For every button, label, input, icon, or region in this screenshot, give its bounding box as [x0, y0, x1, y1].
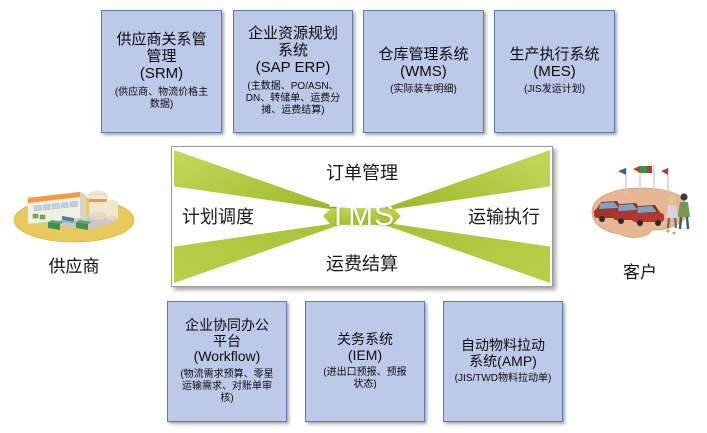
system-box-iem-title: 关务系统 (IEM) — [337, 332, 393, 363]
system-box-mes-title: 生产执行系统 (MES) — [509, 47, 599, 81]
system-box-amp-title: 自动物料拉动 系统(AMP) — [461, 338, 545, 369]
system-box-amp[interactable]: 自动物料拉动 系统(AMP) (JIS/TWD物料拉动单) — [443, 301, 563, 422]
core-label-transport-execution: 运输执行 — [468, 203, 540, 229]
customer-caption: 客户 — [578, 258, 702, 283]
car-dealership-icon — [578, 160, 702, 252]
factory-icon — [8, 174, 140, 246]
system-box-iem[interactable]: 关务系统 (IEM) (进出口预报、预报 状态) — [305, 301, 425, 422]
system-box-srm-title: 供应商关系管 管理 (SRM) — [116, 32, 206, 82]
core-label-freight-settlement: 运费结算 — [172, 250, 552, 276]
system-box-wms-title: 仓库管理系统 (WMS) — [378, 47, 468, 81]
tms-core-panel[interactable]: TMS 订单管理 运费结算 计划调度 运输执行 — [171, 146, 553, 287]
customer-illustration — [578, 160, 702, 257]
system-box-srm-detail: (供应商、物流价格主 数据) — [115, 87, 208, 111]
system-box-workflow[interactable]: 企业协同办公 平台 (Workflow) (物流需求预算、零星 运输需求、对账单… — [167, 301, 287, 422]
system-box-workflow-title: 企业协同办公 平台 (Workflow) — [185, 318, 269, 365]
actor-supplier: 供应商 — [8, 174, 140, 277]
system-box-iem-detail: (进出口预报、预报 状态) — [323, 367, 406, 391]
system-box-wms-detail: (实际装车明细) — [390, 84, 457, 96]
core-label-order-management: 订单管理 — [172, 159, 552, 185]
system-box-srm[interactable]: 供应商关系管 管理 (SRM) (供应商、物流价格主 数据) — [101, 10, 222, 133]
system-box-wms[interactable]: 仓库管理系统 (WMS) (实际装车明细) — [363, 10, 484, 133]
actor-customer: 客户 — [578, 160, 702, 283]
system-box-mes[interactable]: 生产执行系统 (MES) (JIS发运计划) — [494, 10, 615, 133]
supplier-caption: 供应商 — [8, 252, 140, 277]
supplier-illustration — [8, 174, 140, 251]
system-box-mes-detail: (JIS发运计划) — [524, 84, 585, 96]
system-box-sap-erp[interactable]: 企业资源规划 系统 (SAP ERP) (主数据、PO/ASN、 DN、转储单、… — [233, 10, 353, 133]
core-label-planning-dispatch: 计划调度 — [182, 203, 254, 229]
system-box-sap-erp-detail: (主数据、PO/ASN、 DN、转储单、运费分 摊、运费结算) — [246, 81, 340, 117]
system-box-amp-detail: (JIS/TWD物料拉动单) — [455, 373, 552, 385]
system-box-sap-erp-title: 企业资源规划 系统 (SAP ERP) — [248, 26, 338, 76]
diagram-canvas: 供应商关系管 管理 (SRM) (供应商、物流价格主 数据) 企业资源规划 系统… — [0, 0, 707, 433]
system-box-workflow-detail: (物流需求预算、零星 运输需求、对账单审 核) — [180, 369, 273, 405]
